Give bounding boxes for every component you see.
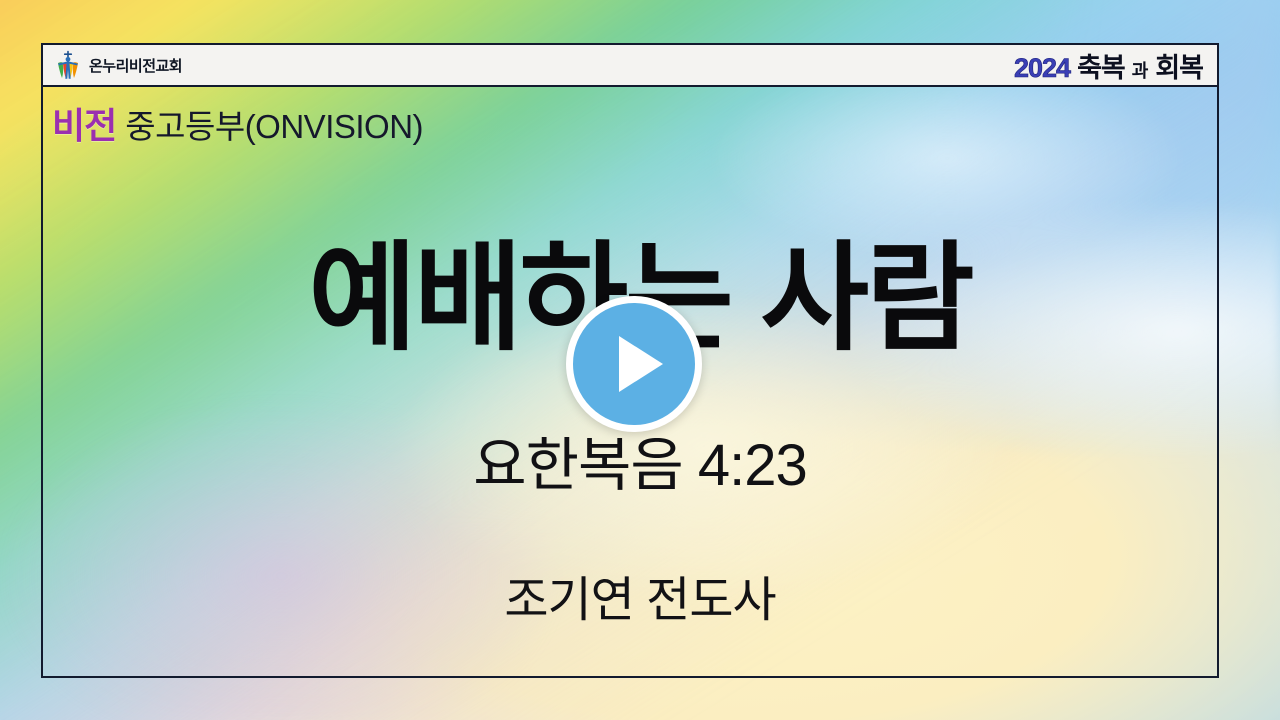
speaker-name: 조기연 전도사 — [0, 560, 1280, 630]
play-icon — [619, 336, 663, 392]
campaign-connector: 과 — [1132, 57, 1149, 83]
slide-header-bar: 온누리비전교회 2024 축복 과 회복 — [41, 43, 1219, 87]
play-button[interactable] — [566, 296, 702, 432]
church-brand: 온누리비전교회 — [55, 50, 182, 80]
department-line: 비전 중고등부(ONVISION) — [52, 97, 423, 149]
church-people-logo-icon — [55, 50, 81, 80]
department-highlight: 비전 — [52, 97, 116, 149]
campaign-title: 2024 축복 과 회복 — [1014, 46, 1203, 85]
campaign-word-blessing: 축복 — [1077, 46, 1125, 85]
campaign-word-restoration: 회복 — [1155, 46, 1203, 85]
department-name: 중고등부(ONVISION) — [125, 100, 423, 148]
video-stage[interactable]: 온누리비전교회 2024 축복 과 회복 비전 중고등부(ONVISION) 예… — [0, 0, 1280, 720]
campaign-year: 2024 — [1014, 53, 1070, 84]
church-brand-name: 온누리비전교회 — [89, 55, 182, 76]
